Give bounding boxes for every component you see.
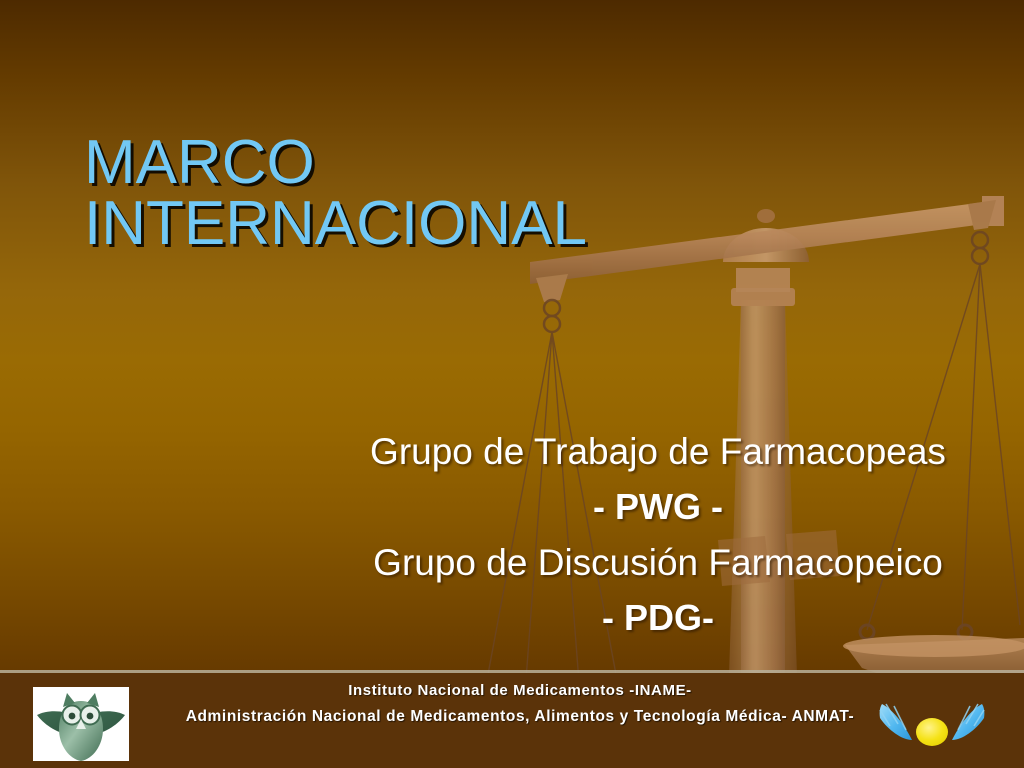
page-title: MARCO INTERNACIONAL [84, 132, 724, 255]
owl-icon [33, 687, 129, 761]
presentation-slide: MARCO INTERNACIONAL Grupo de Trabajo de … [0, 0, 1024, 768]
balance-scales-artwork [0, 0, 1024, 768]
footer-line-anmat: Administración Nacional de Medicamentos,… [140, 704, 900, 730]
subtitle-line-1: Grupo de Trabajo de Farmacopeas [300, 424, 1016, 480]
footer-text-block: Instituto Nacional de Medicamentos -INAM… [140, 678, 900, 730]
footer-line-iname: Instituto Nacional de Medicamentos -INAM… [140, 678, 900, 704]
subtitle-line-3: Grupo de Discusión Farmacopeico [300, 535, 1016, 591]
subtitle-line-4: - PDG- [300, 591, 1016, 646]
subtitle-line-2: - PWG - [300, 480, 1016, 535]
anmat-wings-icon [876, 700, 988, 756]
subtitle-block: Grupo de Trabajo de Farmacopeas - PWG - … [300, 424, 1016, 646]
